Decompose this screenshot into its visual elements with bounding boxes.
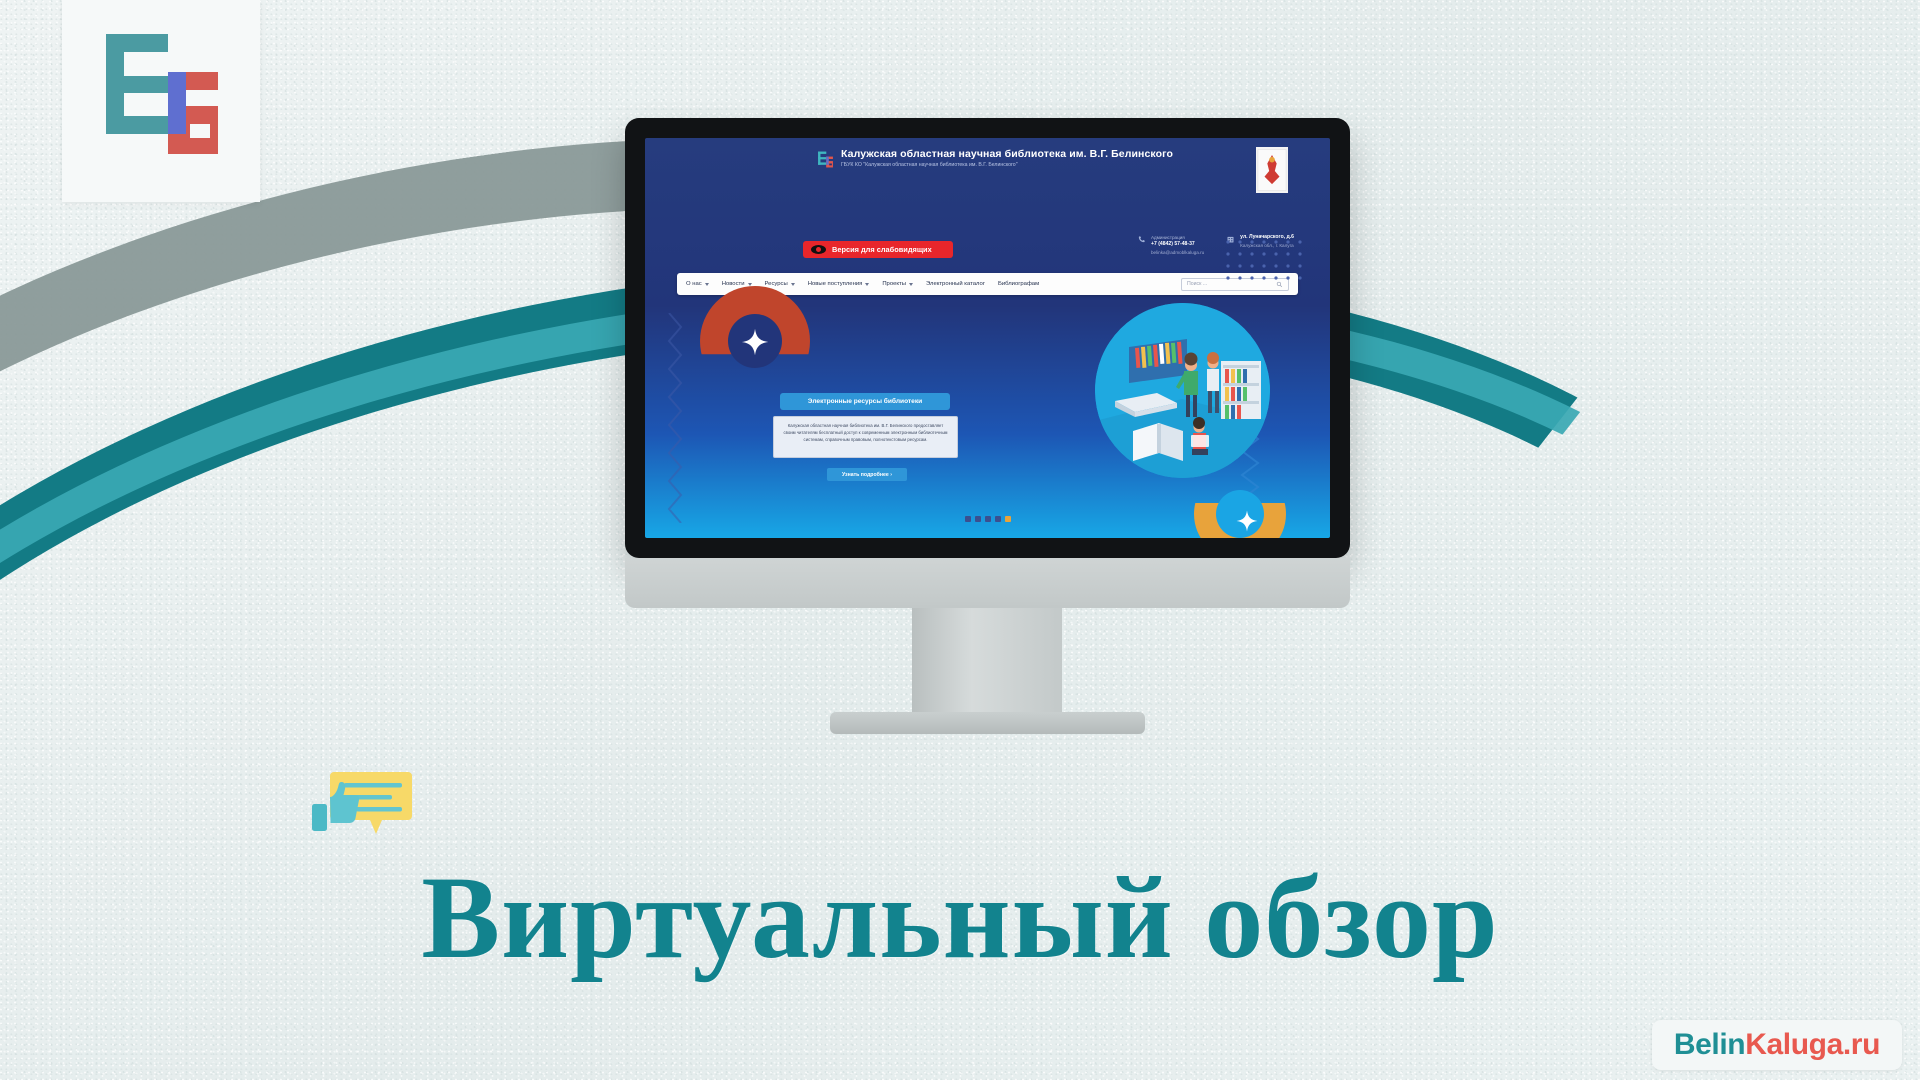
contact-phone[interactable]: Администрация +7 (4842) 57-48-37 belinka…	[1137, 234, 1204, 256]
accessibility-label: Версия для слабовидящих	[832, 245, 932, 254]
phone-icon	[1137, 235, 1146, 244]
nav-item-resources[interactable]: Ресурсы	[765, 281, 795, 287]
site-logo-icon	[817, 150, 834, 169]
sparkle-icon-2	[1236, 510, 1258, 532]
contact-phone-email: belinka@admoblkaluga.ru	[1151, 249, 1204, 256]
monitor-bezel: Калужская областная научная библиотека и…	[625, 118, 1350, 558]
chevron-down-icon	[909, 283, 913, 286]
site-watermark[interactable]: BelinKaluga.ru	[1652, 1020, 1902, 1070]
page-title: Виртуальный обзор	[0, 850, 1920, 986]
chevron-down-icon	[865, 283, 869, 286]
nav-item-new-arrivals[interactable]: Новые поступления	[808, 281, 870, 287]
carousel-dot-1[interactable]	[965, 516, 971, 522]
nav-label: О нас	[686, 281, 702, 287]
site-header: Калужская областная научная библиотека и…	[645, 138, 1330, 200]
chevron-down-icon	[705, 283, 709, 286]
nav-item-bibliographers[interactable]: Библиографам	[998, 281, 1039, 287]
nav-item-catalog[interactable]: Электронный каталог	[926, 281, 985, 287]
eye-icon	[811, 245, 826, 254]
thumbs-up-speech-bubble-icon	[304, 766, 414, 844]
nav-label: Ресурсы	[765, 281, 788, 287]
hero-body-text: Калужская областная научная библиотека и…	[773, 416, 958, 458]
chevron-down-icon	[791, 283, 795, 286]
nav-label: Электронный каталог	[926, 281, 985, 287]
carousel-pagination[interactable]	[965, 516, 1011, 522]
emblem-icon	[1257, 148, 1287, 192]
chevron-down-icon	[748, 283, 752, 286]
sparkle-icon	[741, 328, 769, 356]
contact-phone-value: +7 (4842) 57-48-37	[1151, 241, 1204, 249]
carousel-dot-2[interactable]	[975, 516, 981, 522]
nav-item-about[interactable]: О нас	[686, 281, 709, 287]
site-brand[interactable]: Калужская областная научная библиотека и…	[817, 148, 1173, 169]
library-illustration	[1095, 303, 1270, 478]
monitor-stand-foot	[830, 712, 1145, 734]
monitor-chin	[625, 558, 1350, 608]
accessibility-version-button[interactable]: Версия для слабовидящих	[803, 241, 953, 258]
logo-card	[62, 0, 260, 202]
decorative-dot-grid	[1224, 238, 1308, 290]
library-illustration-svg	[1095, 303, 1270, 478]
carousel-dot-4[interactable]	[995, 516, 1001, 522]
belinka-logo-icon	[98, 24, 226, 164]
watermark-part-belin: Belin	[1674, 1028, 1745, 1061]
nav-label: Проекты	[882, 281, 906, 287]
decorative-zigzag-left	[667, 313, 685, 523]
nav-label: Новые поступления	[808, 281, 863, 287]
website-screenshot: Калужская областная научная библиотека и…	[645, 138, 1330, 538]
site-subtitle: ГБУК КО "Калужская областная научная биб…	[841, 162, 1173, 169]
hero-learn-more-button[interactable]: Узнать подробнее ›	[827, 468, 907, 481]
nav-item-projects[interactable]: Проекты	[882, 281, 913, 287]
contact-phone-lines: Администрация +7 (4842) 57-48-37 belinka…	[1151, 234, 1204, 256]
site-title: Калужская областная научная библиотека и…	[841, 148, 1173, 160]
slide-canvas: Калужская областная научная библиотека и…	[0, 0, 1920, 1080]
search-placeholder: Поиск ...	[1187, 281, 1207, 287]
monitor-stand-neck	[912, 608, 1062, 716]
nav-label: Новости	[722, 281, 745, 287]
nav-label: Библиографам	[998, 281, 1039, 287]
desktop-monitor: Калужская областная научная библиотека и…	[625, 118, 1350, 558]
carousel-dot-3[interactable]	[985, 516, 991, 522]
watermark-part-kaluga: Kaluga.ru	[1745, 1028, 1880, 1061]
hero-heading: Электронные ресурсы библиотеки	[780, 393, 950, 410]
library-emblem	[1256, 147, 1288, 193]
carousel-dot-5[interactable]	[1005, 516, 1011, 522]
contact-phone-label: Администрация	[1151, 234, 1204, 241]
